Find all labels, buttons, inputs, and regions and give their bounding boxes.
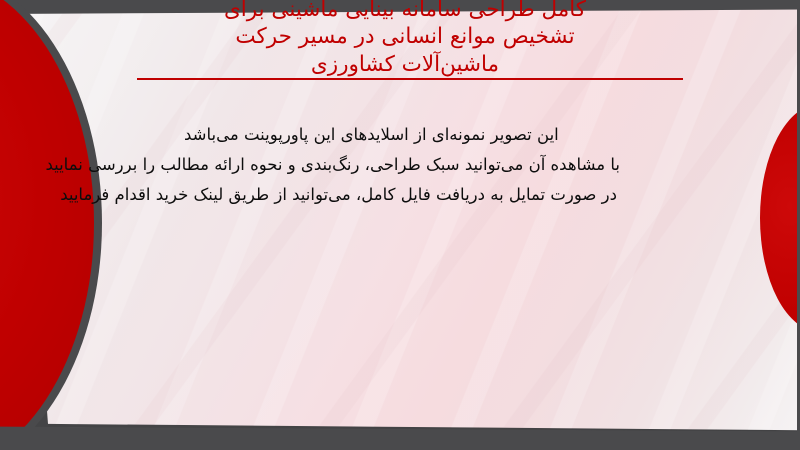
- slide-body-text: این تصویر نمونه‌ای از اسلایدهای این پاور…: [184, 120, 614, 210]
- slide-title-line-1: کامل طراحی سامانه بینایی ماشینی برای: [220, 0, 590, 23]
- title-underline-rule: [137, 78, 683, 80]
- slide-body-line-3: در صورت تمایل به دریافت فایل کامل، می‌تو…: [184, 180, 617, 210]
- slide-body-line-1: این تصویر نمونه‌ای از اسلایدهای این پاور…: [184, 120, 614, 150]
- slide-title-line-2: تشخیص موانع انسانی در مسیر حرکت: [220, 23, 590, 50]
- slide-body-line-2: با مشاهده آن می‌توانید سبک طراحی، رنگ‌بن…: [184, 150, 620, 180]
- presentation-slide: کامل طراحی سامانه بینایی ماشینی برای تشخ…: [0, 0, 800, 450]
- slide-title: کامل طراحی سامانه بینایی ماشینی برای تشخ…: [220, 0, 590, 78]
- slide-title-line-3: ماشین‌آلات کشاورزی: [220, 51, 590, 78]
